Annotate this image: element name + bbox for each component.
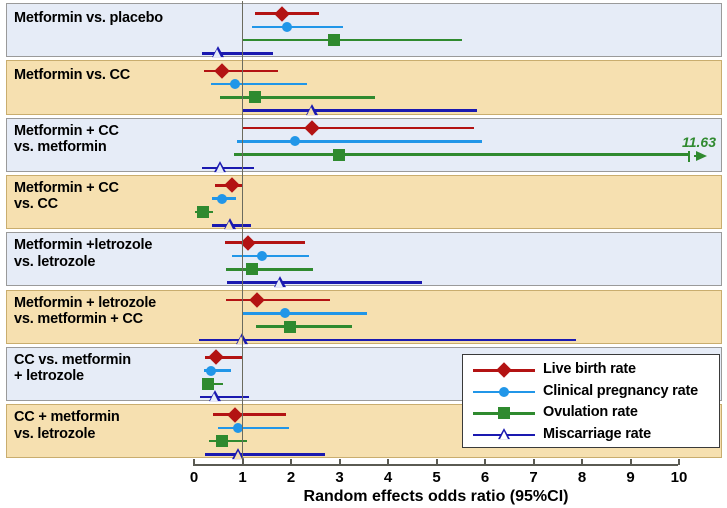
forest-plot: Metformin vs. placeboMetformin vs. CCMet… xyxy=(0,0,727,508)
effect-estimate-marker xyxy=(284,321,296,333)
effect-estimate-marker xyxy=(290,136,300,146)
x-axis-tick xyxy=(436,459,438,465)
legend-marker xyxy=(498,428,510,439)
confidence-interval-line xyxy=(205,453,325,456)
confidence-interval-line xyxy=(234,153,690,156)
comparison-label: Metformin + CC vs. metformin xyxy=(14,123,119,156)
comparison-label: CC vs. metformin + letrozole xyxy=(14,352,131,385)
effect-estimate-marker xyxy=(209,390,221,401)
effect-estimate-marker xyxy=(306,104,318,115)
effect-estimate-marker xyxy=(274,276,286,287)
confidence-interval-line xyxy=(226,268,313,271)
legend-marker xyxy=(499,387,509,397)
x-axis-tick-label: 5 xyxy=(432,469,440,486)
x-axis-tick xyxy=(484,459,486,465)
x-axis-tick xyxy=(339,459,341,465)
confidence-interval-line xyxy=(242,39,463,42)
effect-estimate-marker xyxy=(246,263,258,275)
x-axis-tick-label: 7 xyxy=(529,469,537,486)
legend-label: Live birth rate xyxy=(543,361,636,377)
effect-estimate-marker xyxy=(206,366,216,376)
effect-estimate-marker xyxy=(212,47,224,58)
confidence-interval-line xyxy=(218,427,289,430)
x-axis-tick-label: 10 xyxy=(671,469,688,486)
effect-estimate-marker xyxy=(217,194,227,204)
comparison-label: Metformin + letrozole vs. metformin + CC xyxy=(14,295,156,328)
effect-estimate-marker xyxy=(282,22,292,32)
x-axis-title: Random effects odds ratio (95%CI) xyxy=(0,488,727,506)
effect-estimate-marker xyxy=(230,79,240,89)
legend-marker xyxy=(496,362,512,378)
effect-estimate-marker xyxy=(257,251,267,261)
effect-estimate-marker xyxy=(216,435,228,447)
x-axis-tick-label: 8 xyxy=(578,469,586,486)
x-axis-tick-label: 9 xyxy=(626,469,634,486)
comparison-label: Metformin + CC vs. CC xyxy=(14,180,119,213)
x-axis-tick xyxy=(242,459,244,465)
x-axis-tick xyxy=(193,459,195,465)
confidence-interval-line xyxy=(242,127,475,130)
x-axis-tick-label: 3 xyxy=(335,469,343,486)
x-axis-tick xyxy=(290,459,292,465)
effect-estimate-marker xyxy=(214,161,226,172)
confidence-interval-line xyxy=(242,312,367,315)
effect-estimate-marker xyxy=(333,149,345,161)
reference-line xyxy=(242,1,244,460)
legend-item: Ovulation rate xyxy=(463,402,719,424)
confidence-interval-line xyxy=(252,26,343,29)
legend-marker xyxy=(498,407,510,419)
x-axis-tick xyxy=(387,459,389,465)
legend-label: Clinical pregnancy rate xyxy=(543,383,698,399)
x-axis-tick-label: 0 xyxy=(190,469,198,486)
confidence-interval-line xyxy=(202,167,254,170)
x-axis-tick-label: 2 xyxy=(287,469,295,486)
comparison-label: Metformin vs. placebo xyxy=(14,10,163,27)
x-axis-tick-label: 4 xyxy=(384,469,392,486)
confidence-interval-line xyxy=(242,109,477,112)
legend: Live birth rateClinical pregnancy rateOv… xyxy=(462,354,720,448)
effect-estimate-marker xyxy=(197,206,209,218)
confidence-interval-line xyxy=(232,255,310,258)
effect-estimate-marker xyxy=(224,218,236,229)
confidence-interval-line xyxy=(199,339,576,342)
legend-item: Live birth rate xyxy=(463,359,719,381)
effect-estimate-marker xyxy=(249,91,261,103)
comparison-label: Metformin vs. CC xyxy=(14,67,130,84)
comparison-label: Metformin +letrozole vs. letrozole xyxy=(14,237,152,270)
x-axis-tick xyxy=(630,459,632,465)
x-axis-tick xyxy=(533,459,535,465)
effect-estimate-marker xyxy=(202,378,214,390)
x-axis-tick xyxy=(581,459,583,465)
confidence-interval-line xyxy=(256,325,352,328)
confidence-interval-line xyxy=(237,140,482,143)
confidence-interval-line xyxy=(213,413,286,416)
ci-upper-value-label: 11.63 xyxy=(682,134,716,150)
confidence-interval-line xyxy=(220,96,375,99)
confidence-interval-line xyxy=(211,83,307,86)
legend-label: Miscarriage rate xyxy=(543,426,651,442)
comparison-label: CC + metformin vs. letrozole xyxy=(14,409,120,442)
confidence-interval-line xyxy=(227,281,422,284)
confidence-interval-line xyxy=(225,241,305,244)
legend-item: Clinical pregnancy rate xyxy=(463,381,719,403)
x-axis-tick-label: 6 xyxy=(481,469,489,486)
legend-label: Ovulation rate xyxy=(543,404,638,420)
effect-estimate-marker xyxy=(328,34,340,46)
x-axis-tick xyxy=(678,459,680,465)
legend-item: Miscarriage rate xyxy=(463,424,719,446)
x-axis-tick-label: 1 xyxy=(238,469,246,486)
effect-estimate-marker xyxy=(280,308,290,318)
